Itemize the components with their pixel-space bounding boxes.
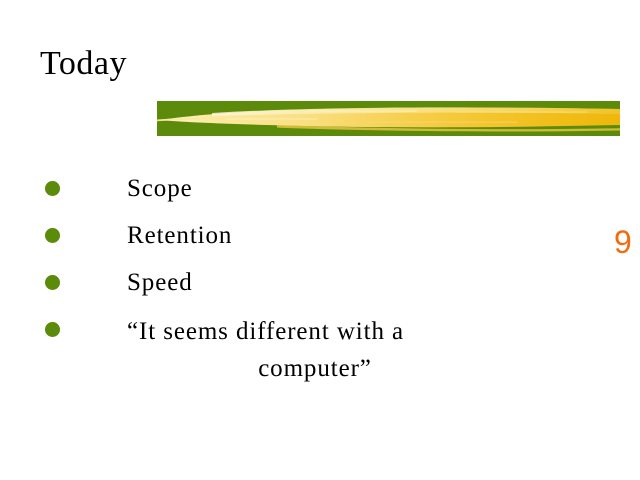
bullet-marker-icon: [45, 275, 60, 290]
slide-title: Today: [40, 44, 127, 84]
bullet-text: Scope: [127, 172, 193, 206]
slide-canvas: Today: [0, 0, 640, 480]
bullet-text: Retention: [127, 219, 232, 253]
bullet-list: Scope Retention Speed “It seems differen…: [0, 172, 640, 360]
bullet-marker-icon: [45, 181, 60, 196]
bullet-text-quote-line-2: computer”: [127, 350, 527, 387]
bullet-marker-icon: [45, 322, 60, 337]
brushstroke-icon: [157, 101, 620, 136]
decorative-banner: [157, 101, 620, 136]
bullet-marker-icon: [45, 228, 60, 243]
bullet-text-quote-line-1: “It seems different with a: [127, 313, 527, 350]
bullet-text-quote: “It seems different with a computer”: [127, 313, 527, 387]
list-item: Speed: [0, 266, 640, 313]
list-item: “It seems different with a computer”: [0, 313, 640, 360]
list-item: Retention: [0, 219, 640, 266]
bullet-text: Speed: [127, 266, 193, 300]
list-item: Scope: [0, 172, 640, 219]
page-number: 9: [614, 226, 632, 258]
